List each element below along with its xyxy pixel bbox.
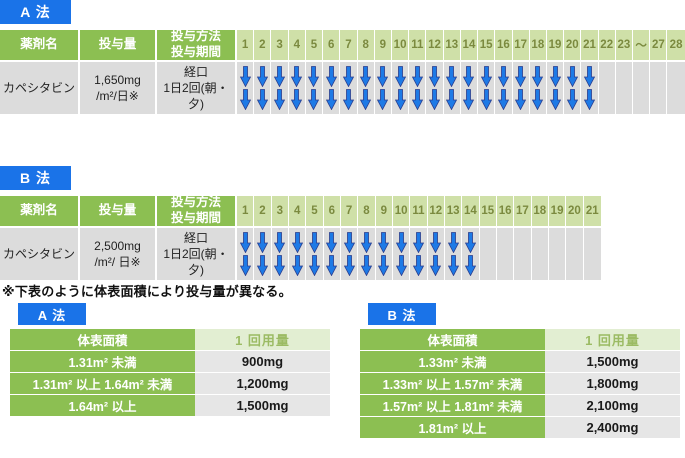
day-cell-27 — [650, 62, 667, 114]
dose-section-badge-a: A 法 — [18, 303, 86, 325]
day-cell-13 — [444, 62, 461, 114]
arrow-down-icon — [344, 255, 355, 276]
day-cell-1 — [237, 228, 254, 280]
schedule-b-badge-wrap: B 法 — [0, 166, 71, 190]
column-dose-b: 投与量 2,500mg /m²/ 日※ — [80, 196, 157, 280]
day-header-12: 12 — [428, 196, 445, 228]
cell-method-a-line1: 経口 — [157, 64, 235, 80]
day-header-17: 17 — [513, 30, 530, 62]
arrow-down-icon — [377, 66, 388, 87]
cell-drug-name-a: カペシタビン — [0, 62, 78, 114]
arrow-down-icon — [291, 89, 302, 110]
day-column-6: 6 — [323, 30, 340, 114]
day-header-8: 8 — [358, 196, 375, 228]
arrow-down-icon — [448, 255, 459, 276]
day-header-19: 19 — [549, 196, 566, 228]
arrow-down-icon — [240, 66, 251, 87]
arrow-down-icon — [465, 255, 476, 276]
day-column-17: 17 — [514, 196, 531, 280]
day-column-14: 14 — [462, 196, 479, 280]
day-column-4: 4 — [289, 196, 306, 280]
day-cell-11 — [409, 62, 426, 114]
day-header-20: 20 — [566, 196, 583, 228]
day-header-27: 27 — [650, 30, 667, 62]
day-header-18: 18 — [532, 196, 549, 228]
dose-cell-bsa-2: 1.64m² 以上 — [10, 395, 195, 417]
arrow-down-icon — [378, 232, 389, 253]
day-cell-〜 — [633, 62, 650, 114]
arrow-down-icon — [274, 255, 285, 276]
day-cell-17 — [513, 62, 530, 114]
column-dose-a: 投与量 1,650mg /m²/日※ — [80, 30, 157, 114]
dose-cell-bsa-0: 1.33m² 未満 — [360, 351, 545, 373]
day-header-20: 20 — [564, 30, 581, 62]
cell-dose-b: 2,500mg /m²/ 日※ — [80, 228, 155, 280]
dose-cell-amount-0: 900mg — [195, 351, 330, 373]
dose-header-amount: 1 回用量 — [545, 329, 680, 351]
arrow-down-icon — [567, 66, 578, 87]
dose-row: 1.31m² 以上 1.64m² 未満1,200mg — [10, 373, 330, 395]
arrow-down-icon — [308, 66, 319, 87]
day-cell-3 — [271, 62, 288, 114]
dose-table-a: 体表面積1 回用量1.31m² 未満900mg1.31m² 以上 1.64m² … — [10, 329, 330, 417]
day-column-9: 9 — [375, 30, 392, 114]
dose-cell-bsa-2: 1.57m² 以上 1.81m² 未満 — [360, 395, 545, 417]
bsa-note: ※下表のように体表面積により投与量が異なる。 — [2, 281, 292, 300]
arrow-down-icon — [240, 89, 251, 110]
day-column-13: 13 — [444, 30, 461, 114]
cell-dose-a-line1: 1,650mg — [94, 72, 141, 88]
dose-header-bsa: 体表面積 — [360, 329, 545, 351]
arrow-down-icon — [240, 255, 251, 276]
day-column-19: 19 — [549, 196, 566, 280]
arrow-down-icon — [412, 66, 423, 87]
day-cell-16 — [495, 62, 512, 114]
day-header-19: 19 — [547, 30, 564, 62]
header-dose-a: 投与量 — [80, 30, 155, 62]
day-column-28: 28 — [667, 30, 684, 114]
header-method-a-line2: 投与期間 — [171, 45, 221, 61]
day-cell-15 — [478, 62, 495, 114]
day-column-1: 1 — [237, 30, 254, 114]
day-header-9: 9 — [376, 196, 393, 228]
day-header-4: 4 — [289, 30, 306, 62]
day-header-6: 6 — [323, 30, 340, 62]
arrow-down-icon — [308, 89, 319, 110]
arrow-down-icon — [532, 89, 543, 110]
arrow-down-icon — [343, 66, 354, 87]
arrow-down-icon — [395, 89, 406, 110]
dose-cell-amount-0: 1,500mg — [545, 351, 680, 373]
arrow-down-icon — [291, 66, 302, 87]
day-header-9: 9 — [375, 30, 392, 62]
cell-dose-a-line2: /m²/日※ — [94, 88, 141, 104]
arrow-down-icon — [292, 232, 303, 253]
day-column-〜: 〜 — [633, 30, 650, 114]
day-column-19: 19 — [547, 30, 564, 114]
day-cell-3 — [272, 228, 289, 280]
day-column-7: 7 — [340, 30, 357, 114]
arrow-down-icon — [550, 66, 561, 87]
day-header-15: 15 — [480, 196, 497, 228]
day-column-15: 15 — [480, 196, 497, 280]
arrow-down-icon — [309, 232, 320, 253]
arrow-down-icon — [429, 66, 440, 87]
day-cell-6 — [323, 62, 340, 114]
arrow-down-icon — [429, 89, 440, 110]
day-column-5: 5 — [306, 196, 323, 280]
day-header-13: 13 — [445, 196, 462, 228]
day-header-5: 5 — [306, 30, 323, 62]
day-cell-2 — [254, 62, 271, 114]
dose-b-badge-wrap: B 法 — [368, 303, 436, 325]
day-cell-14 — [461, 62, 478, 114]
arrow-down-icon — [430, 232, 441, 253]
column-method-b: 投与方法 投与期間 経口 1日2回(朝・夕) — [157, 196, 237, 280]
schedule-table-a: 薬剤名 カペシタビン 投与量 1,650mg /m²/日※ 投与方法 投与期間 … — [0, 30, 685, 114]
day-cell-15 — [480, 228, 497, 280]
day-column-3: 3 — [271, 30, 288, 114]
arrow-down-icon — [361, 232, 372, 253]
day-header-28: 28 — [667, 30, 684, 62]
day-column-1: 1 — [237, 196, 254, 280]
day-column-23: 23 — [616, 30, 633, 114]
day-header-10: 10 — [393, 196, 410, 228]
day-column-9: 9 — [376, 196, 393, 280]
day-header-14: 14 — [462, 196, 479, 228]
arrow-down-icon — [532, 66, 543, 87]
day-column-21: 21 — [584, 196, 601, 280]
section-badge-a: A 法 — [0, 0, 71, 24]
dose-cell-amount-3: 2,400mg — [545, 417, 680, 439]
dose-header-bsa: 体表面積 — [10, 329, 195, 351]
dose-row: 1.31m² 未満900mg — [10, 351, 330, 373]
day-column-18: 18 — [530, 30, 547, 114]
arrow-down-icon — [257, 66, 268, 87]
day-header-11: 11 — [409, 30, 426, 62]
arrow-down-icon — [396, 255, 407, 276]
header-method-b-line1: 投与方法 — [171, 195, 221, 211]
schedule-a-badge-wrap: A 法 — [0, 0, 71, 24]
dose-cell-bsa-1: 1.31m² 以上 1.64m² 未満 — [10, 373, 195, 395]
arrow-down-icon — [498, 66, 509, 87]
day-cell-12 — [428, 228, 445, 280]
day-cell-20 — [566, 228, 583, 280]
day-cell-14 — [462, 228, 479, 280]
day-header-8: 8 — [358, 30, 375, 62]
day-column-16: 16 — [495, 30, 512, 114]
dose-row: 1.81m² 以上2,400mg — [360, 417, 680, 439]
arrow-down-icon — [465, 232, 476, 253]
day-cell-2 — [254, 228, 271, 280]
day-column-20: 20 — [564, 30, 581, 114]
day-column-13: 13 — [445, 196, 462, 280]
day-cell-5 — [306, 62, 323, 114]
day-column-22: 22 — [599, 30, 616, 114]
day-header-10: 10 — [392, 30, 409, 62]
day-columns-b: 123456789101112131415161718192021 — [237, 196, 601, 280]
day-header-7: 7 — [341, 196, 358, 228]
arrow-down-icon — [360, 66, 371, 87]
dose-cell-bsa-3: 1.81m² 以上 — [360, 417, 545, 439]
arrow-down-icon — [326, 66, 337, 87]
arrow-down-icon — [567, 89, 578, 110]
day-cell-23 — [616, 62, 633, 114]
day-header-〜: 〜 — [633, 30, 650, 62]
arrow-down-icon — [344, 232, 355, 253]
day-cell-6 — [324, 228, 341, 280]
day-cell-20 — [564, 62, 581, 114]
day-cell-8 — [358, 62, 375, 114]
day-column-12: 12 — [426, 30, 443, 114]
day-header-13: 13 — [444, 30, 461, 62]
arrow-down-icon — [326, 89, 337, 110]
day-header-3: 3 — [272, 196, 289, 228]
day-cell-16 — [497, 228, 514, 280]
day-cell-18 — [530, 62, 547, 114]
cell-drug-name-b: カペシタビン — [0, 228, 78, 280]
day-header-22: 22 — [599, 30, 616, 62]
arrow-down-icon — [309, 255, 320, 276]
day-column-17: 17 — [513, 30, 530, 114]
arrow-down-icon — [463, 66, 474, 87]
day-column-11: 11 — [409, 30, 426, 114]
dose-header-row: 体表面積1 回用量 — [360, 329, 680, 351]
day-column-7: 7 — [341, 196, 358, 280]
arrow-down-icon — [274, 232, 285, 253]
day-header-12: 12 — [426, 30, 443, 62]
arrow-down-icon — [395, 66, 406, 87]
day-column-3: 3 — [272, 196, 289, 280]
day-cell-4 — [289, 228, 306, 280]
day-header-21: 21 — [584, 196, 601, 228]
day-cell-9 — [375, 62, 392, 114]
day-cell-18 — [532, 228, 549, 280]
cell-method-b-line1: 経口 — [157, 230, 235, 246]
arrow-down-icon — [274, 66, 285, 87]
day-header-21: 21 — [581, 30, 598, 62]
column-drug-name-b: 薬剤名 カペシタビン — [0, 196, 80, 280]
arrow-down-icon — [240, 232, 251, 253]
dose-cell-amount-1: 1,800mg — [545, 373, 680, 395]
arrow-down-icon — [257, 255, 268, 276]
cell-method-a: 経口 1日2回(朝・夕) — [157, 62, 235, 114]
day-cell-19 — [547, 62, 564, 114]
arrow-down-icon — [448, 232, 459, 253]
arrow-down-icon — [326, 255, 337, 276]
dose-cell-bsa-0: 1.31m² 未満 — [10, 351, 195, 373]
dose-row: 1.33m² 以上 1.57m² 未満1,800mg — [360, 373, 680, 395]
day-header-4: 4 — [289, 196, 306, 228]
arrow-down-icon — [430, 255, 441, 276]
dose-row: 1.33m² 未満1,500mg — [360, 351, 680, 373]
day-cell-10 — [393, 228, 410, 280]
day-cell-28 — [667, 62, 684, 114]
dose-cell-bsa-1: 1.33m² 以上 1.57m² 未満 — [360, 373, 545, 395]
day-header-1: 1 — [237, 30, 254, 62]
column-method-a: 投与方法 投与期間 経口 1日2回(朝・夕) — [157, 30, 237, 114]
arrow-down-icon — [550, 89, 561, 110]
arrow-down-icon — [463, 89, 474, 110]
cell-dose-b-line1: 2,500mg — [94, 238, 141, 254]
day-cell-7 — [341, 228, 358, 280]
arrow-down-icon — [446, 66, 457, 87]
day-header-11: 11 — [410, 196, 427, 228]
day-header-16: 16 — [495, 30, 512, 62]
day-cell-9 — [376, 228, 393, 280]
day-header-17: 17 — [514, 196, 531, 228]
day-header-18: 18 — [530, 30, 547, 62]
day-cell-22 — [599, 62, 616, 114]
arrow-down-icon — [515, 66, 526, 87]
arrow-down-icon — [257, 89, 268, 110]
day-column-11: 11 — [410, 196, 427, 280]
dose-header-amount: 1 回用量 — [195, 329, 330, 351]
arrow-down-icon — [584, 89, 595, 110]
header-method-a: 投与方法 投与期間 — [157, 30, 235, 62]
cell-dose-b-line2: /m²/ 日※ — [94, 254, 141, 270]
day-header-6: 6 — [324, 196, 341, 228]
day-header-16: 16 — [497, 196, 514, 228]
arrow-down-icon — [360, 89, 371, 110]
arrow-down-icon — [257, 232, 268, 253]
day-column-18: 18 — [532, 196, 549, 280]
arrow-down-icon — [361, 255, 372, 276]
day-column-2: 2 — [254, 196, 271, 280]
dose-row: 1.57m² 以上 1.81m² 未満2,100mg — [360, 395, 680, 417]
cell-method-b: 経口 1日2回(朝・夕) — [157, 228, 235, 280]
day-cell-13 — [445, 228, 462, 280]
arrow-down-icon — [413, 255, 424, 276]
day-column-14: 14 — [461, 30, 478, 114]
day-header-14: 14 — [461, 30, 478, 62]
arrow-down-icon — [498, 89, 509, 110]
day-header-3: 3 — [271, 30, 288, 62]
day-column-8: 8 — [358, 30, 375, 114]
day-column-4: 4 — [289, 30, 306, 114]
dose-row: 1.64m² 以上1,500mg — [10, 395, 330, 417]
dose-section-badge-b: B 法 — [368, 303, 436, 325]
arrow-down-icon — [413, 232, 424, 253]
day-header-2: 2 — [254, 196, 271, 228]
arrow-down-icon — [292, 255, 303, 276]
day-cell-21 — [581, 62, 598, 114]
cell-method-b-line2: 1日2回(朝・夕) — [157, 246, 235, 278]
header-dose-b: 投与量 — [80, 196, 155, 228]
day-header-23: 23 — [616, 30, 633, 62]
dose-a-badge-wrap: A 法 — [18, 303, 86, 325]
arrow-down-icon — [343, 89, 354, 110]
day-header-5: 5 — [306, 196, 323, 228]
day-cell-21 — [584, 228, 601, 280]
arrow-down-icon — [584, 66, 595, 87]
arrow-down-icon — [326, 232, 337, 253]
day-header-1: 1 — [237, 196, 254, 228]
cell-method-a-line2: 1日2回(朝・夕) — [157, 80, 235, 112]
day-cell-7 — [340, 62, 357, 114]
day-column-12: 12 — [428, 196, 445, 280]
dose-cell-amount-1: 1,200mg — [195, 373, 330, 395]
day-column-6: 6 — [324, 196, 341, 280]
arrow-down-icon — [396, 232, 407, 253]
arrow-down-icon — [481, 89, 492, 110]
day-cell-17 — [514, 228, 531, 280]
dose-table-b: 体表面積1 回用量1.33m² 未満1,500mg1.33m² 以上 1.57m… — [360, 329, 680, 439]
arrow-down-icon — [412, 89, 423, 110]
day-column-5: 5 — [306, 30, 323, 114]
day-header-7: 7 — [340, 30, 357, 62]
arrow-down-icon — [446, 89, 457, 110]
dose-header-row: 体表面積1 回用量 — [10, 329, 330, 351]
cell-dose-a: 1,650mg /m²/日※ — [80, 62, 155, 114]
day-column-10: 10 — [393, 196, 410, 280]
day-column-10: 10 — [392, 30, 409, 114]
header-method-b: 投与方法 投与期間 — [157, 196, 235, 228]
day-cell-8 — [358, 228, 375, 280]
arrow-down-icon — [481, 66, 492, 87]
header-drug-name-b: 薬剤名 — [0, 196, 78, 228]
day-cell-11 — [410, 228, 427, 280]
day-cell-19 — [549, 228, 566, 280]
day-column-20: 20 — [566, 196, 583, 280]
section-badge-b: B 法 — [0, 166, 71, 190]
dose-cell-amount-2: 1,500mg — [195, 395, 330, 417]
header-method-b-line2: 投与期間 — [171, 211, 221, 227]
day-column-27: 27 — [650, 30, 667, 114]
arrow-down-icon — [377, 89, 388, 110]
day-cell-12 — [426, 62, 443, 114]
arrow-down-icon — [515, 89, 526, 110]
header-method-a-line1: 投与方法 — [171, 29, 221, 45]
day-header-15: 15 — [478, 30, 495, 62]
day-column-16: 16 — [497, 196, 514, 280]
column-drug-name-a: 薬剤名 カペシタビン — [0, 30, 80, 114]
day-cell-10 — [392, 62, 409, 114]
day-header-2: 2 — [254, 30, 271, 62]
schedule-table-b: 薬剤名 カペシタビン 投与量 2,500mg /m²/ 日※ 投与方法 投与期間… — [0, 196, 601, 280]
day-cell-4 — [289, 62, 306, 114]
arrow-down-icon — [378, 255, 389, 276]
day-column-21: 21 — [581, 30, 598, 114]
arrow-down-icon — [274, 89, 285, 110]
day-column-15: 15 — [478, 30, 495, 114]
day-cell-5 — [306, 228, 323, 280]
day-cell-1 — [237, 62, 254, 114]
day-column-8: 8 — [358, 196, 375, 280]
day-columns-a: 1234567891011121314151617181920212223〜27… — [237, 30, 685, 114]
day-column-2: 2 — [254, 30, 271, 114]
dose-cell-amount-2: 2,100mg — [545, 395, 680, 417]
header-drug-name-a: 薬剤名 — [0, 30, 78, 62]
